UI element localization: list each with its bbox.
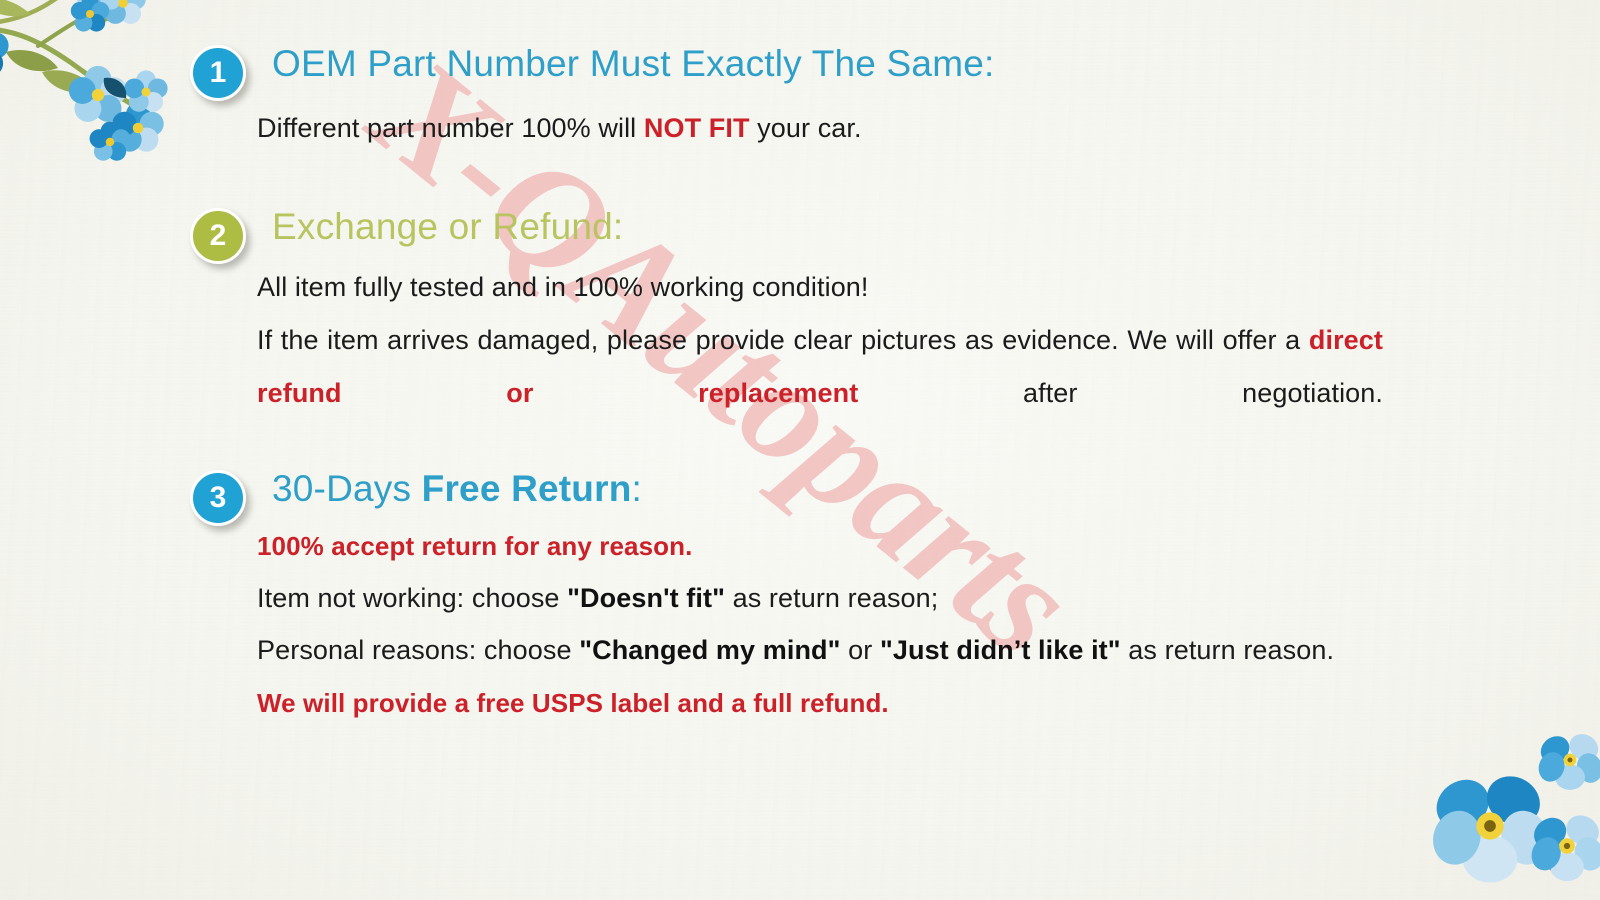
section-2-title-text: Exchange or Refund: xyxy=(272,206,623,247)
section-1-not-fit-emphasis: NOT FIT xyxy=(644,113,750,143)
section-1-title: OEM Part Number Must Exactly The Same: xyxy=(272,43,994,85)
section-1-line-1: Different part number 100% will NOT FIT … xyxy=(257,113,862,144)
return-reason-changed-my-mind: "Changed my mind" xyxy=(579,635,840,665)
section-free-return: 3 30-Days Free Return: 100% accept retur… xyxy=(0,470,1600,532)
section-3-line-3-mid: or xyxy=(841,635,880,665)
section-2-paragraph-part-b: after negotiation. xyxy=(858,378,1383,408)
section-exchange-or-refund: 2 Exchange or Refund: All item fully tes… xyxy=(0,208,1600,270)
section-3-accept-return-line: 100% accept return for any reason. xyxy=(257,531,692,562)
section-3-usps-label-line: We will provide a free USPS label and a … xyxy=(257,688,889,719)
section-2-line-1: All item fully tested and in 100% workin… xyxy=(257,272,869,303)
section-3-line-3-part-b: as return reason. xyxy=(1121,635,1334,665)
section-3-title-days: 30-Days xyxy=(272,468,422,509)
badge-number-2: 2 xyxy=(190,208,246,264)
badge-number-1: 1 xyxy=(190,45,246,101)
section-3-title-free-return: Free Return xyxy=(422,468,632,509)
section-2-title: Exchange or Refund: xyxy=(272,206,623,248)
section-1-heading-row: 1 OEM Part Number Must Exactly The Same: xyxy=(0,45,1600,107)
section-3-title-colon: : xyxy=(632,468,642,509)
section-2-paragraph: If the item arrives damaged, please prov… xyxy=(257,314,1383,473)
section-3-line-3-part-a: Personal reasons: choose xyxy=(257,635,579,665)
section-2-heading-row: 2 Exchange or Refund: xyxy=(0,208,1600,270)
section-3-line-item-not-working: Item not working: choose "Doesn't fit" a… xyxy=(257,583,938,614)
return-reason-just-didnt-like-it: "Just didn’t like it" xyxy=(880,635,1121,665)
section-3-title: 30-Days Free Return: xyxy=(272,468,642,510)
section-3-line-personal-reasons: Personal reasons: choose "Changed my min… xyxy=(257,635,1334,666)
section-1-line-1-part-a: Different part number 100% will xyxy=(257,113,644,143)
section-1-title-text: OEM Part Number Must Exactly The Same: xyxy=(272,43,994,84)
section-2-paragraph-part-a: If the item arrives damaged, please prov… xyxy=(257,325,1309,355)
section-3-line-2-part-a: Item not working: choose xyxy=(257,583,567,613)
section-oem-part-number: 1 OEM Part Number Must Exactly The Same:… xyxy=(0,45,1600,107)
return-reason-doesnt-fit: "Doesn't fit" xyxy=(567,583,725,613)
policy-banner: X-QAutoparts xyxy=(0,0,1600,900)
section-3-line-2-part-b: as return reason; xyxy=(725,583,938,613)
section-3-heading-row: 3 30-Days Free Return: xyxy=(0,470,1600,532)
section-2-line-1-text: All item fully tested and in 100% workin… xyxy=(257,272,869,302)
section-1-line-1-part-b: your car. xyxy=(750,113,862,143)
badge-number-3: 3 xyxy=(190,470,246,526)
